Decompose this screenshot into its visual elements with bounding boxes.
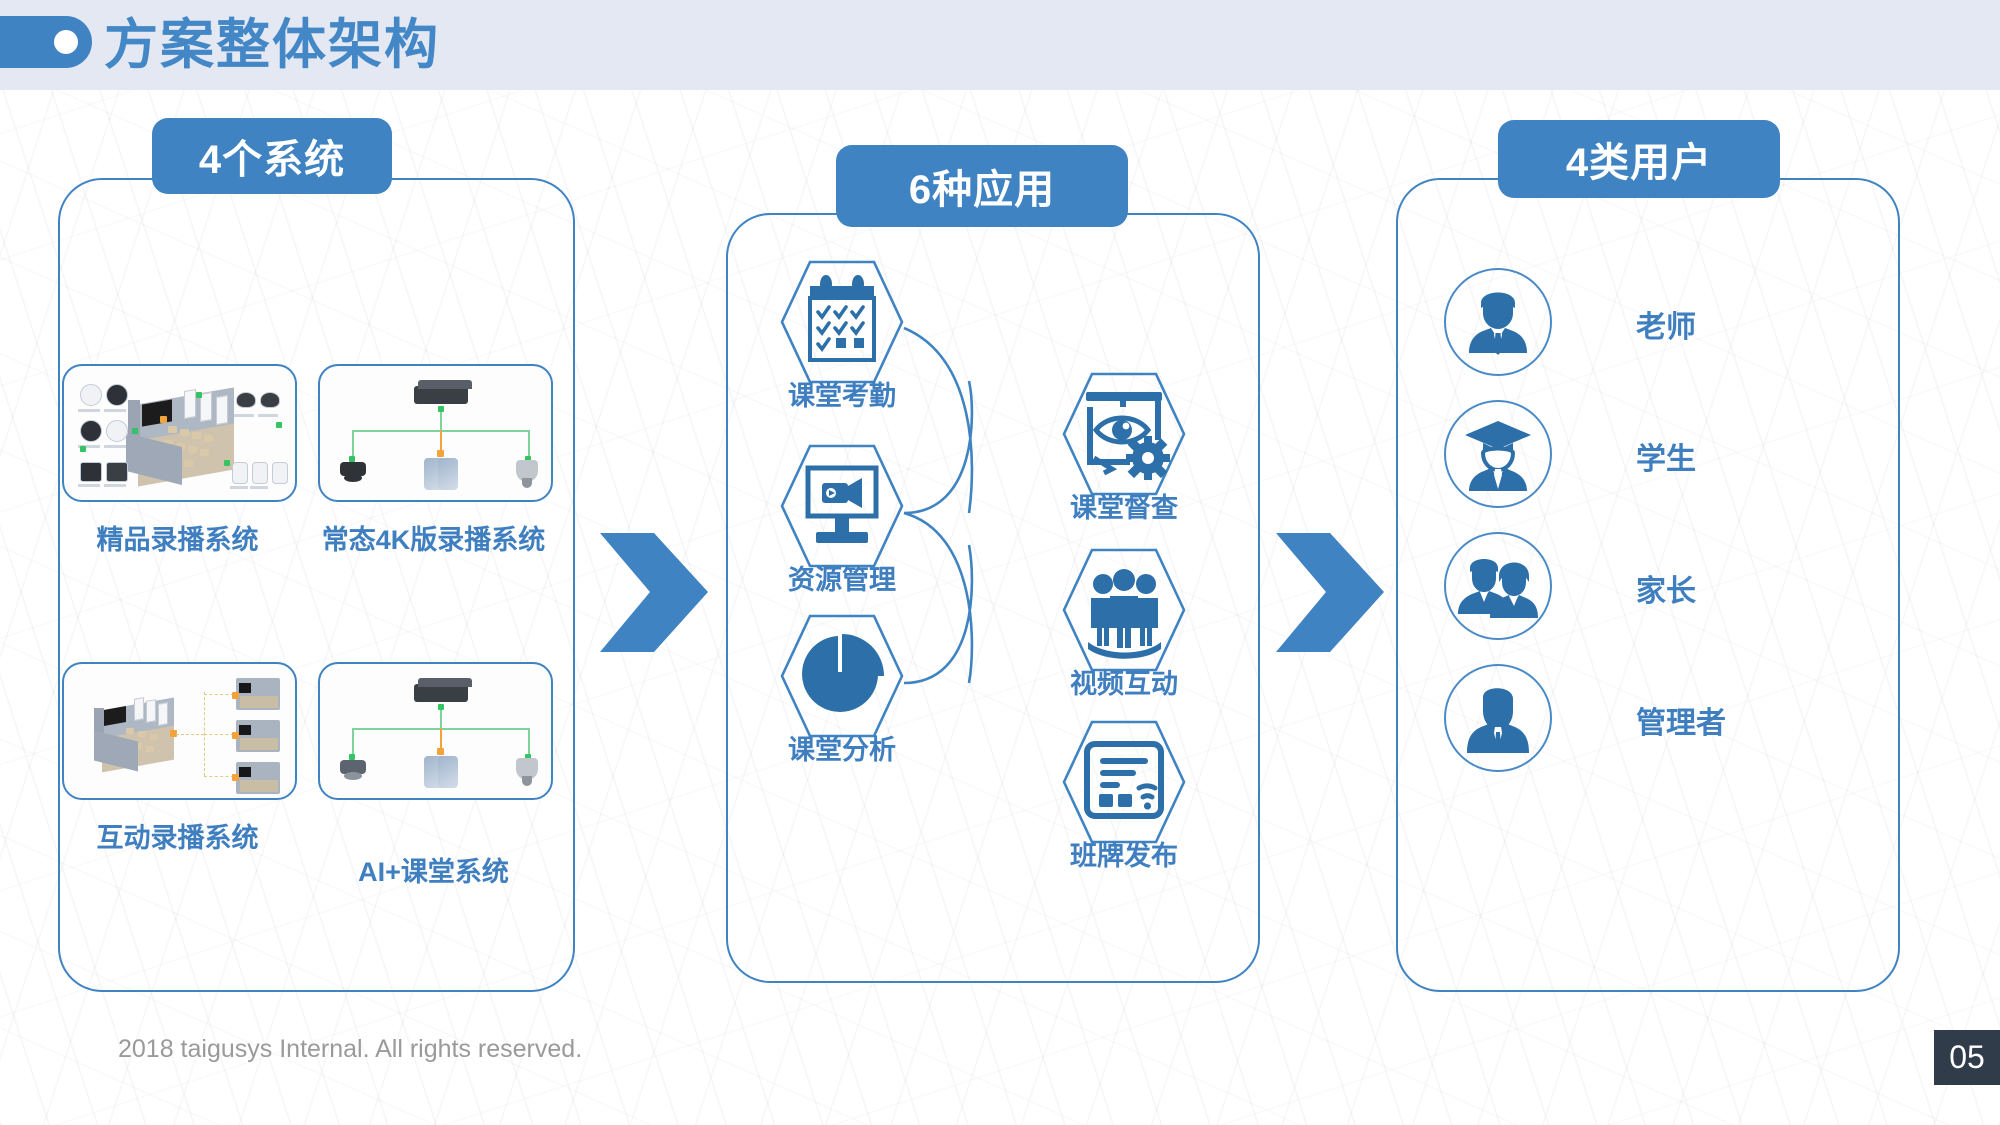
page-title: 方案整体架构 xyxy=(104,4,440,86)
rounded-tag-icon xyxy=(0,16,92,68)
systems-panel xyxy=(58,178,575,992)
page-number-badge: 05 xyxy=(1934,1030,2000,1085)
application-connectors xyxy=(726,213,1256,979)
page-header: 方案整体架构 xyxy=(0,0,2000,90)
applications-panel-badge: 6种应用 xyxy=(836,145,1128,227)
users-panel xyxy=(1396,178,1900,992)
flow-arrow-2 xyxy=(1268,525,1388,660)
tag-dot-icon xyxy=(54,30,78,54)
footer-copyright: 2018 taigusys Internal. All rights reser… xyxy=(118,1035,582,1064)
systems-panel-badge: 4个系统 xyxy=(152,118,392,194)
users-panel-badge: 4类用户 xyxy=(1498,120,1780,198)
flow-arrow-1 xyxy=(592,525,712,660)
